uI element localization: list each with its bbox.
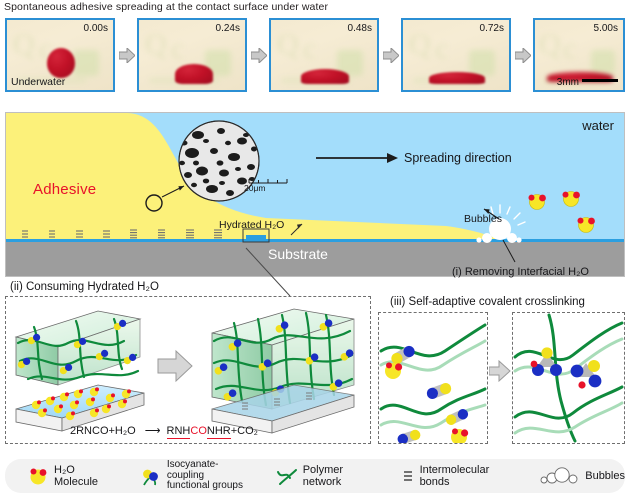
isocyanate-capsule-3 [444,407,470,426]
filmstrip-frame-3[interactable]: Q c 0.48s [269,18,379,92]
panel-crosslinking-before [378,312,488,444]
legend-label-bubbles: Bubbles [585,470,625,482]
legend-label-water-molecule: H₂O Molecule [54,464,122,488]
frame-timestamp: 5.00s [594,23,618,34]
panel-ii-graphic [6,297,370,443]
panel-iii-before-graphic [379,313,487,443]
droplet-shape [47,48,75,78]
filmstrip-frame-5[interactable]: Q c 5.00s 3mm [533,18,625,92]
filmstrip-frame-1[interactable]: Q c 0.00s Underwater [5,18,115,92]
equation-product-carbonyl: CO [190,425,207,437]
equation-arrow: ⟶ [139,425,167,437]
panel-consuming-hydrated-water [5,296,371,444]
filmstrip-frame-2[interactable]: Q c 0.24s [137,18,247,92]
adhesive-label: Adhesive [33,181,96,198]
strip-arrow-2 [251,48,267,63]
bubbles-icon [538,466,580,486]
figure-top-title: Spontaneous adhesive spreading at the co… [4,1,328,13]
panel-iii-after-graphic [513,313,624,443]
substrate-label: Substrate [268,246,328,262]
schematic-panel: water Adhesive Substrate Spreading direc… [5,112,625,277]
legend-item-bubbles: Bubbles [538,466,625,486]
equation-product-b: NHR [207,425,231,439]
polymer-network-icon [276,466,298,486]
figure-root: Spontaneous adhesive spreading at the co… [0,0,630,497]
isocyanate-group-icon [140,466,162,486]
frame-timestamp: 0.24s [216,23,240,34]
bubbles-label: Bubbles [464,213,502,225]
panel-iii-arrow [489,360,511,382]
legend-label-isocyanate-group: Isocyanate-coupling functional groups [167,460,256,492]
legend-label-intermolecular-bonds: Intermolecular bonds [420,464,523,488]
equation-product-tail: +CO₂ [231,425,258,437]
frame-underwater-label: Underwater [11,76,65,88]
hydrated-water-label: Hydrated H₂O [219,219,284,231]
strip-arrow-4 [515,48,531,63]
legend-item-intermolecular-bonds: Intermolecular bonds [401,464,523,488]
figure-legend: H₂O Molecule Isocyanate-coupling functio… [5,459,625,493]
step-iii-label: (iii) Self-adaptive covalent crosslinkin… [390,296,585,308]
frame-timestamp: 0.72s [480,23,504,34]
legend-item-polymer-network: Polymer network [276,464,385,488]
interface-water-line [6,239,624,243]
strip-arrow-3 [383,48,399,63]
step-ii-label: (ii) Consuming Hydrated H₂O [10,281,159,293]
left-polymer-block [16,311,140,385]
equation-product-a: RNH [167,425,191,439]
strip-arrow-1 [119,48,135,63]
spreading-direction-label: Spreading direction [404,151,512,165]
legend-label-polymer-network: Polymer network [303,464,385,488]
scale-bar-label: 3mm [557,77,579,88]
isocyanate-capsule-4 [396,428,421,443]
frame-timestamp: 0.00s [84,23,108,34]
panel-ii-arrow [158,351,192,381]
droplet-shape [301,69,349,84]
legend-item-water-molecule: H₂O Molecule [27,464,122,488]
droplet-shape [429,72,485,84]
water-molecule-2 [451,428,468,443]
step-i-label: (i) Removing Interfacial H₂O [452,266,589,278]
equation-reactants: 2RNCO+H₂O [70,425,136,437]
frame-timestamp: 0.48s [348,23,372,34]
right-bonded-block [212,309,354,433]
scale-bar [582,79,618,83]
intermolecular-bonds-icon [401,466,415,486]
water-molecule-1 [385,362,402,379]
filmstrip-frame-4[interactable]: Q c 0.72s [401,18,511,92]
droplet-shape [175,64,213,84]
water-molecule-icon [27,466,49,486]
water-label: water [582,118,614,133]
crosslink-cluster-2 [571,360,602,389]
legend-item-isocyanate-group: Isocyanate-coupling functional groups [140,460,256,492]
panel-crosslinking-after [512,312,625,444]
sem-scale-label: 20μm [244,183,265,193]
isocyanate-capsule-2 [425,381,453,400]
chemical-equation: 2RNCO+H₂O ⟶RNHCONHR+CO₂ [70,424,258,437]
filmstrip: Q c 0.00s Underwater Q c 0.24s [5,18,625,92]
